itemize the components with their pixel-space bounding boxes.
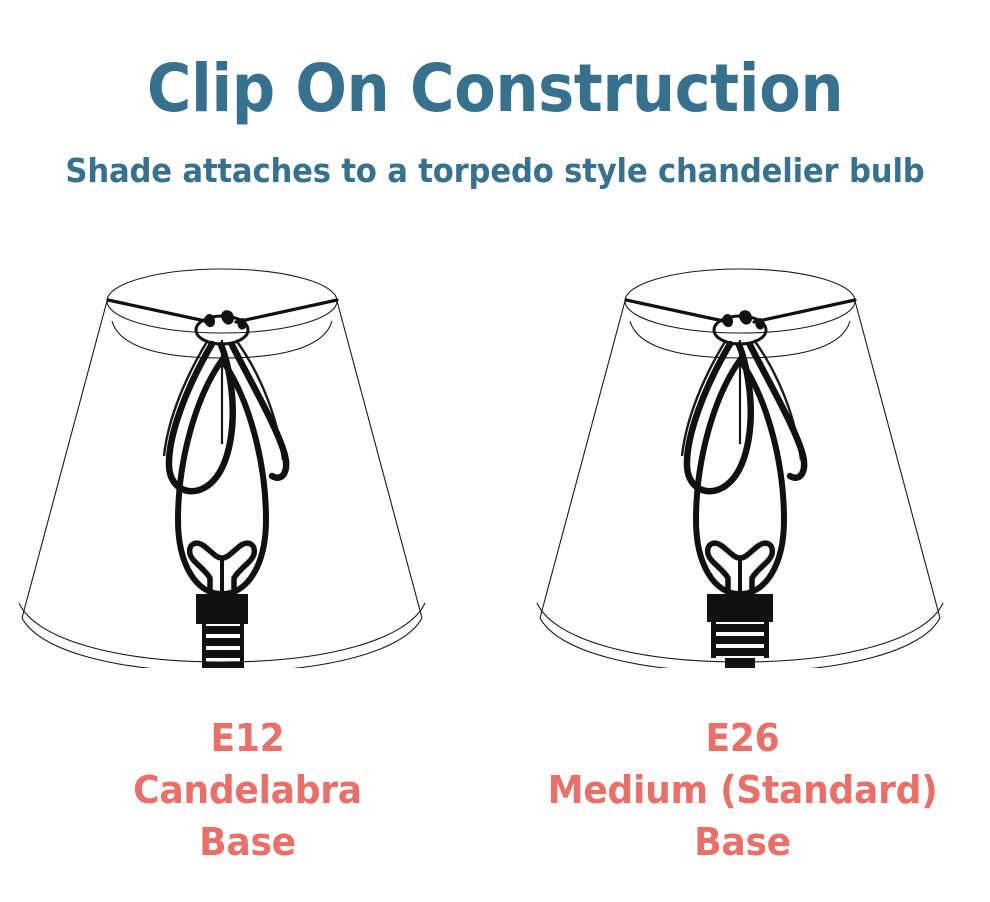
- bulb-screw-threads-e26: [711, 622, 769, 668]
- caption-e26-code: E26: [507, 712, 977, 764]
- caption-e26-suffix: Base: [507, 816, 977, 868]
- clip-collar-icon: [714, 311, 766, 344]
- clip-collar-icon: [196, 311, 248, 344]
- shade-right-edge: [337, 301, 422, 618]
- shade-left-edge: [22, 301, 107, 618]
- figure-e26: [495, 248, 990, 668]
- caption-e12-code: E12: [12, 712, 482, 764]
- shade-top-ellipse: [107, 269, 337, 333]
- product-info-graphic: Clip On Construction Shade attaches to a…: [0, 0, 990, 902]
- bulb-base-collar-e12: [196, 594, 248, 624]
- lampshade-e12-icon: [0, 248, 495, 668]
- lampshade-e26-icon: [495, 248, 990, 668]
- caption-e26: E26 Medium (Standard) Base: [507, 712, 977, 868]
- caption-e12-suffix: Base: [12, 816, 482, 868]
- shade-right-edge: [855, 301, 940, 618]
- caption-e12: E12 Candelabra Base: [12, 712, 482, 868]
- caption-e26-name: Medium (Standard): [507, 764, 977, 816]
- page-title: Clip On Construction: [40, 50, 951, 128]
- caption-e12-name: Candelabra: [12, 764, 482, 816]
- shade-top-ellipse: [625, 269, 855, 333]
- figure-e12: [0, 248, 495, 668]
- bulb-base-collar-e26: [707, 594, 773, 622]
- shade-left-edge: [540, 301, 625, 618]
- page-subtitle: Shade attaches to a torpedo style chande…: [35, 151, 956, 191]
